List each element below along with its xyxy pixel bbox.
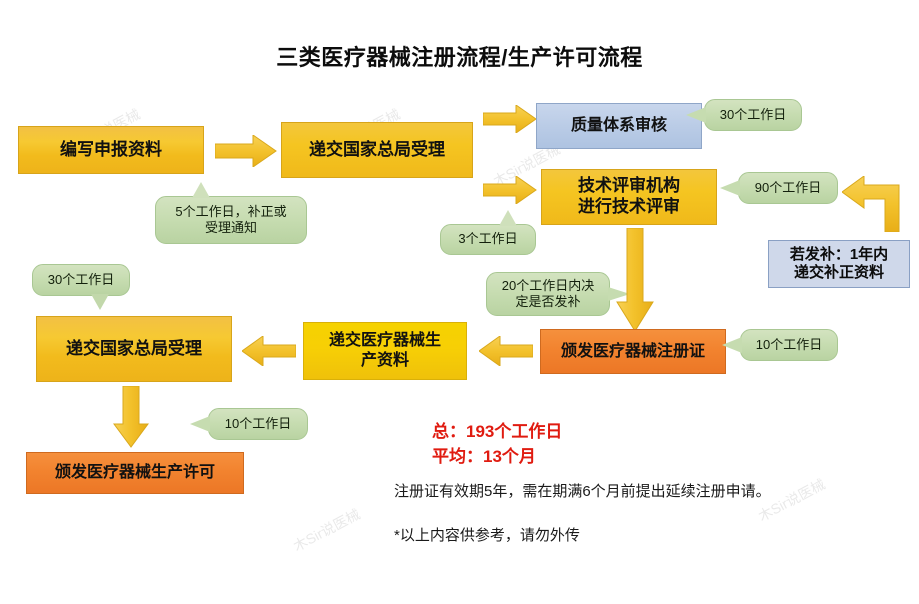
- callout-tail: [499, 210, 517, 226]
- arrow-materials-to-submit-cfda: [242, 336, 296, 366]
- callout-label: 3个工作日: [458, 231, 517, 247]
- callout-label: 10个工作日: [225, 416, 291, 432]
- callout-decide-supplement: 20个工作日内决 定是否发补: [486, 272, 610, 316]
- watermark: 木Sir说医械: [290, 504, 364, 556]
- box-prepare-materials[interactable]: 编写申报资料: [18, 126, 204, 174]
- box-issue-registration-cert[interactable]: 颁发医疗器械注册证: [540, 329, 726, 374]
- box-issue-production-license[interactable]: 颁发医疗器械生产许可: [26, 452, 244, 494]
- box-submit-cfda-first[interactable]: 递交国家总局受理: [281, 122, 473, 178]
- callout-tail: [686, 107, 706, 123]
- box-technical-review[interactable]: 技术评审机构 进行技术评审: [541, 169, 717, 225]
- callout-quality-days: 30个工作日: [704, 99, 802, 131]
- callout-tail: [192, 182, 210, 198]
- callout-tail: [190, 416, 210, 432]
- callout-label: 20个工作日内决 定是否发补: [502, 278, 594, 311]
- callout-license-days: 10个工作日: [208, 408, 308, 440]
- arrow-submit-to-production-license: [112, 386, 150, 448]
- callout-label: 5个工作日，补正或 受理通知: [175, 204, 286, 237]
- arrow-submit-to-technical-review: [483, 176, 537, 204]
- box-submit-cfda-second[interactable]: 递交国家总局受理: [36, 316, 232, 382]
- callout-accept-notice: 5个工作日，补正或 受理通知: [155, 196, 307, 244]
- callout-technical-days: 90个工作日: [738, 172, 838, 204]
- note-validity: 注册证有效期5年，需在期满6个月前提出延续注册申请。: [394, 480, 771, 501]
- callout-label: 30个工作日: [48, 272, 114, 288]
- arrow-submit-to-quality: [483, 105, 537, 133]
- callout-three-days: 3个工作日: [440, 224, 536, 255]
- page-title: 三类医疗器械注册流程/生产许可流程: [0, 40, 919, 72]
- callout-submit-cfda2-days: 30个工作日: [32, 264, 130, 296]
- callout-tail: [722, 337, 742, 353]
- note-disclaimer: *以上内容供参考，请勿外传: [394, 524, 580, 545]
- callout-label: 10个工作日: [756, 337, 822, 353]
- arrow-technical-to-certificate: [615, 228, 655, 332]
- callout-cert-days: 10个工作日: [740, 329, 838, 361]
- flowchart-canvas: 三类医疗器械注册流程/生产许可流程 木Sir说医械 木Sir说医械 木Sir说医…: [0, 0, 919, 604]
- arrow-feedback-loop: [842, 176, 904, 232]
- callout-label: 90个工作日: [755, 180, 821, 196]
- callout-tail: [720, 180, 740, 196]
- box-supplement-note: 若发补：1年内 递交补正资料: [768, 240, 910, 288]
- box-quality-system-audit[interactable]: 质量体系审核: [536, 103, 702, 149]
- summary-total-days: 总：193个工作日 平均：13个月: [432, 420, 562, 469]
- arrow-prepare-to-submit: [215, 135, 277, 167]
- box-submit-production-materials[interactable]: 递交医疗器械生 产资料: [303, 322, 467, 380]
- callout-tail: [91, 294, 109, 310]
- callout-label: 30个工作日: [720, 107, 786, 123]
- arrow-cert-to-production-materials: [479, 336, 533, 366]
